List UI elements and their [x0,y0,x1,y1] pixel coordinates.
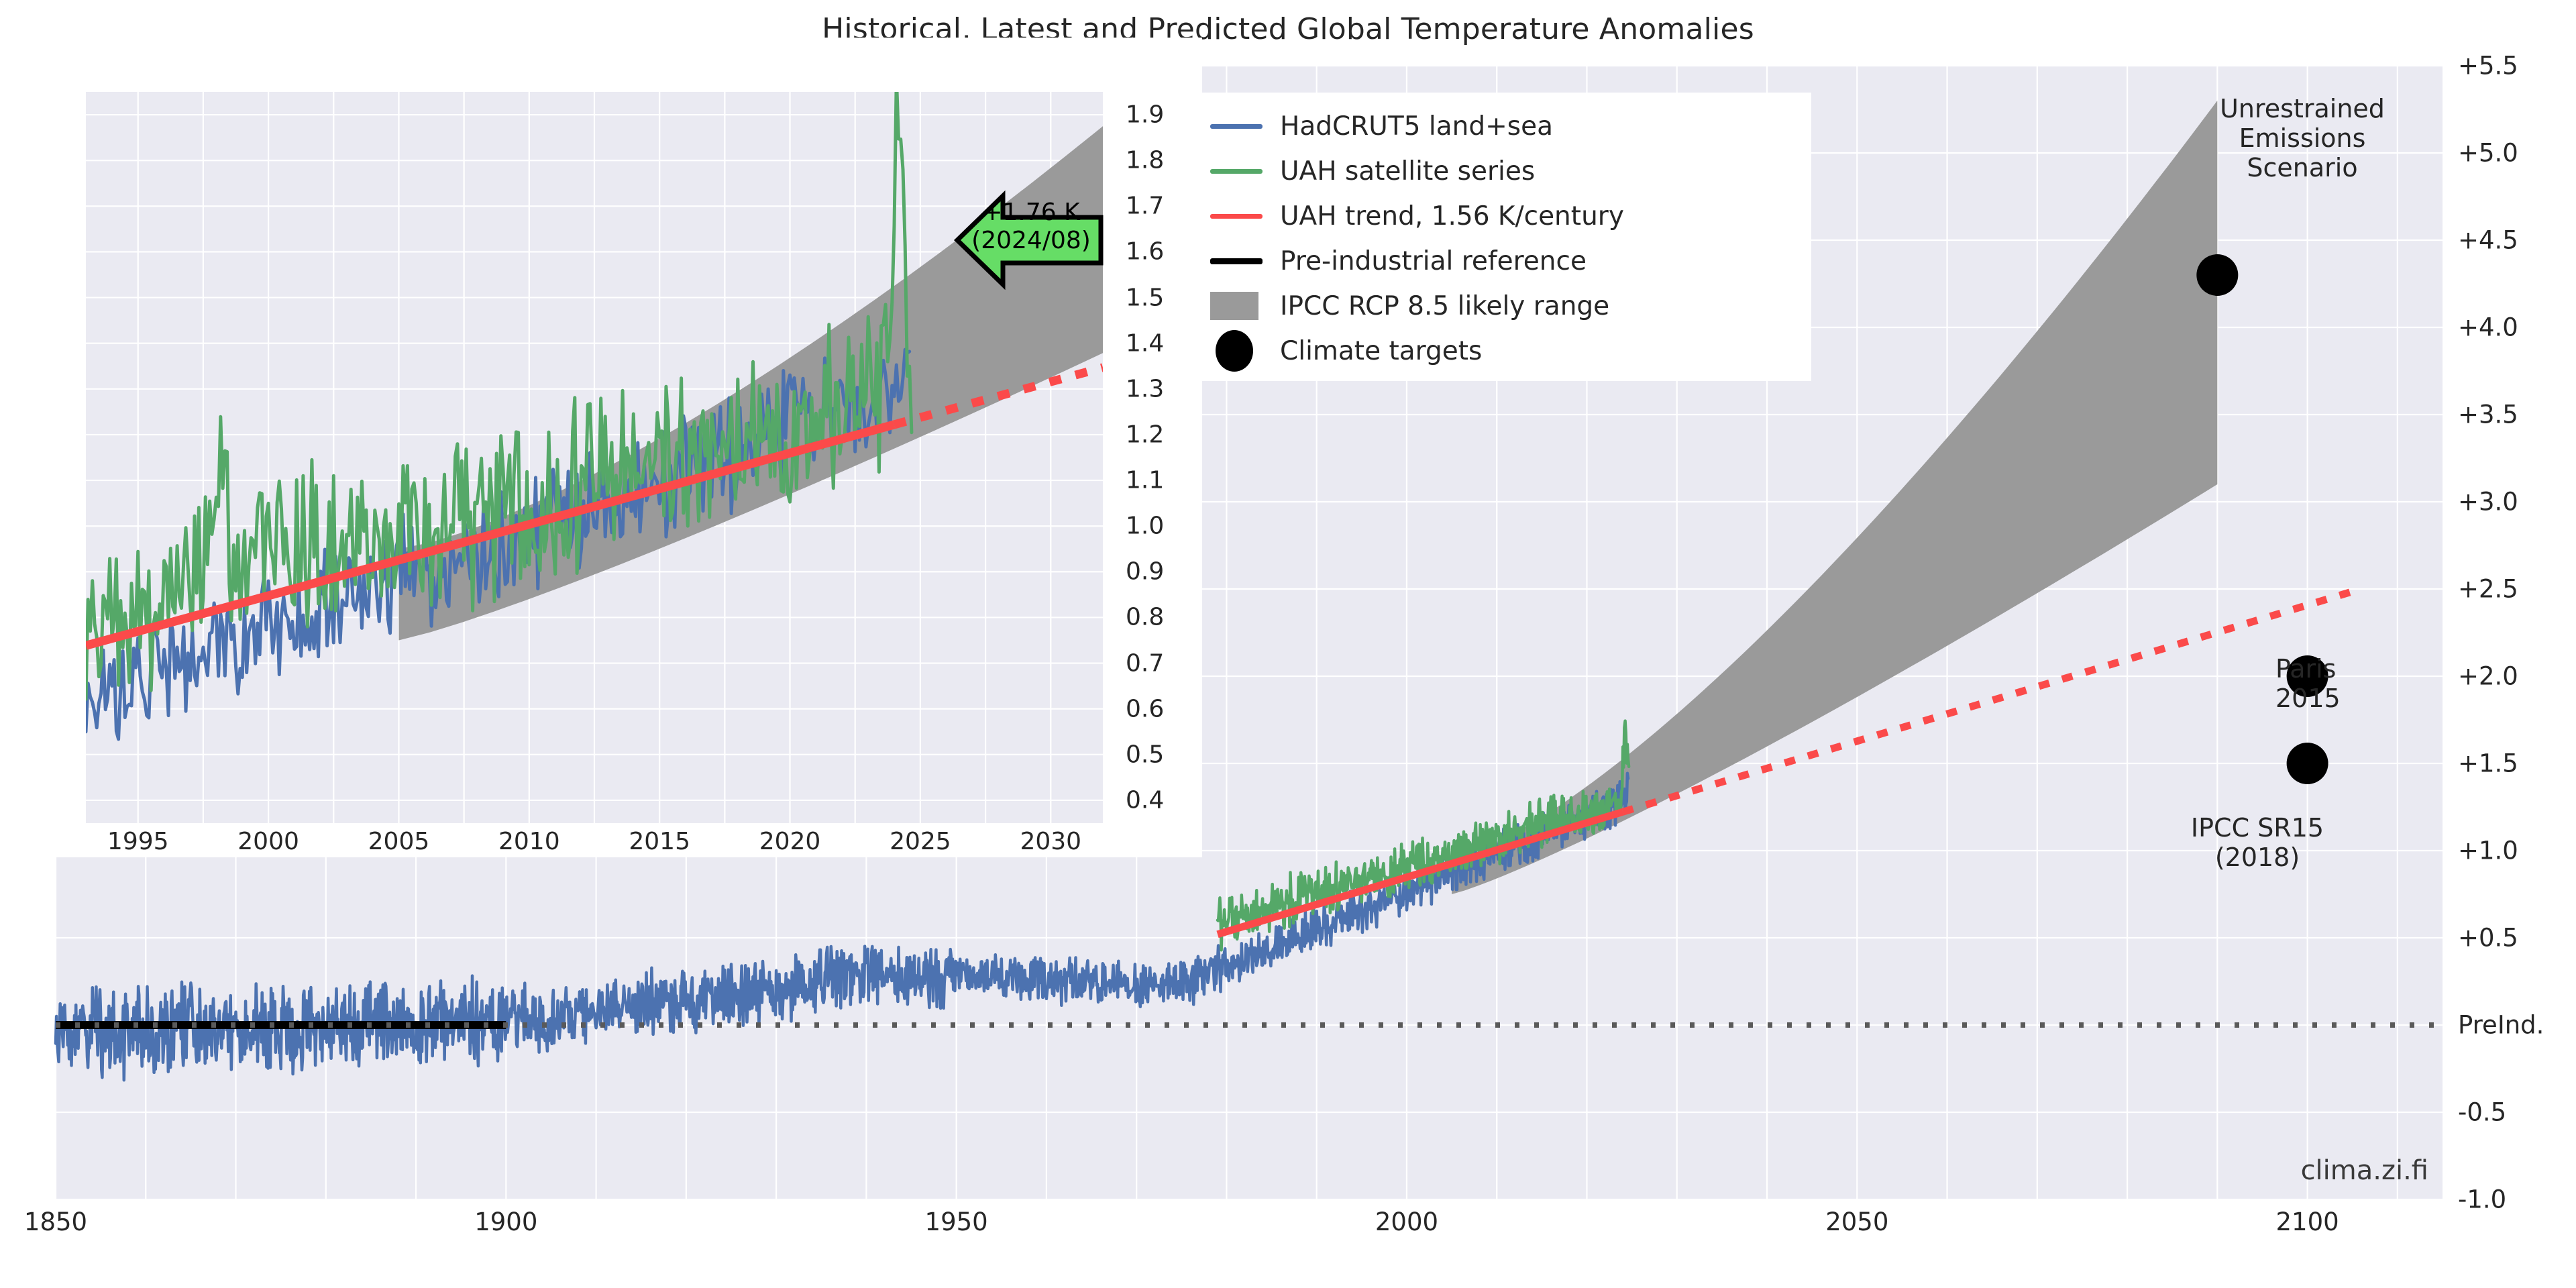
legend-item[interactable]: UAH trend, 1.56 K/century [1210,196,1624,236]
watermark: clima.zi.fi [2301,1155,2428,1186]
y-axis-tick-label: +2.5 [2458,575,2518,604]
inset-x-axis-tick-label: 2005 [368,828,430,855]
x-axis-tick-label: 1950 [925,1207,988,1236]
legend-item-label: HadCRUT5 land+sea [1280,111,1553,142]
legend-line-swatch [1210,124,1263,129]
label-ipcc-sr15: IPCC SR15 (2018) [2147,813,2368,872]
legend-patch-swatch [1210,292,1258,320]
inset-y-axis-tick-label: 1.6 [1126,238,1164,266]
inset-y-axis-tick-label: 1.8 [1126,147,1164,174]
inset-y-axis-tick-label: 1.1 [1126,467,1164,494]
x-axis-tick-label: 2100 [2276,1207,2339,1236]
legend-item[interactable]: UAH satellite series [1210,151,1535,191]
y-axis-tick-label: +3.5 [2458,400,2518,429]
inset-x-axis-tick-label: 2015 [629,828,690,855]
x-axis-tick-label: 1900 [474,1207,537,1236]
inset-x-axis-tick-label: 2030 [1020,828,1081,855]
inset-y-axis-tick-label: 0.9 [1126,558,1164,586]
y-axis-tick-label: +4.5 [2458,226,2518,255]
y-axis-tick-label: +0.5 [2458,924,2518,953]
y-axis-tick-label: +1.5 [2458,749,2518,778]
x-axis-tick-label: 2050 [1825,1207,1888,1236]
legend-item[interactable]: HadCRUT5 land+sea [1210,106,1553,146]
y-axis-tick-label: -1.0 [2458,1185,2506,1214]
y-axis-tick-label: +2.0 [2458,662,2518,691]
label-unrestrained-emissions: Unrestrained Emissions Scenario [2188,94,2416,182]
legend-item[interactable]: Pre-industrial reference [1210,241,1587,281]
y-axis-tick-label: +1.0 [2458,837,2518,865]
inset-y-axis-tick-label: 1.9 [1126,101,1164,129]
legend-line-swatch [1210,169,1263,174]
inset-y-axis-tick-label: 0.5 [1126,741,1164,768]
inset-x-axis-tick-label: 2000 [237,828,299,855]
legend-dot-swatch [1216,330,1253,372]
y-axis-tick-label: PreInd. [2458,1011,2544,1040]
latest-value-callout-text: +1.76 K (2024/08) [961,199,1102,256]
legend-item-label: UAH trend, 1.56 K/century [1280,201,1624,231]
inset-y-axis-tick-label: 0.4 [1126,786,1164,814]
inset-panel: 0.40.50.60.70.80.91.01.11.21.31.41.51.61… [0,38,1202,857]
y-axis-tick-label: +5.5 [2458,52,2518,80]
x-axis-tick-label: 2000 [1375,1207,1438,1236]
chart-figure: Historical, Latest and Predicted Global … [0,0,2576,1288]
label-paris-2015: Paris 2015 [2275,654,2436,713]
chart-legend: HadCRUT5 land+seaUAH satellite seriesUAH… [1193,93,1811,381]
inset-y-axis-tick-label: 1.7 [1126,193,1164,220]
inset-x-axis-tick-label: 2025 [890,828,951,855]
y-axis-tick-label: +4.0 [2458,313,2518,342]
inset-y-axis-tick-label: 0.8 [1126,604,1164,631]
inset-y-axis-tick-label: 1.4 [1126,329,1164,357]
inset-y-axis-tick-label: 1.5 [1126,284,1164,311]
inset-y-axis-tick-label: 0.6 [1126,695,1164,722]
inset-x-axis-tick-label: 1995 [107,828,169,855]
inset-y-axis-tick-label: 1.2 [1126,421,1164,448]
x-axis-tick-label: 1850 [24,1207,87,1236]
legend-item[interactable]: IPCC RCP 8.5 likely range [1210,286,1609,326]
y-axis-tick-label: +5.0 [2458,139,2518,168]
legend-line-swatch [1210,258,1263,264]
inset-x-axis-tick-label: 2010 [498,828,560,855]
y-axis-tick-label: +3.0 [2458,488,2518,517]
legend-item-label: Climate targets [1280,336,1482,366]
inset-chart-canvas [0,38,1202,857]
y-axis-tick-label: -0.5 [2458,1098,2506,1127]
legend-item[interactable]: Climate targets [1210,331,1482,371]
legend-item-label: IPCC RCP 8.5 likely range [1280,291,1609,321]
legend-item-label: UAH satellite series [1280,156,1535,186]
inset-x-axis-tick-label: 2020 [759,828,821,855]
legend-item-label: Pre-industrial reference [1280,246,1587,276]
inset-y-axis-tick-label: 1.3 [1126,375,1164,402]
legend-line-swatch [1210,214,1263,219]
inset-y-axis-tick-label: 0.7 [1126,649,1164,677]
inset-y-axis-tick-label: 1.0 [1126,513,1164,540]
